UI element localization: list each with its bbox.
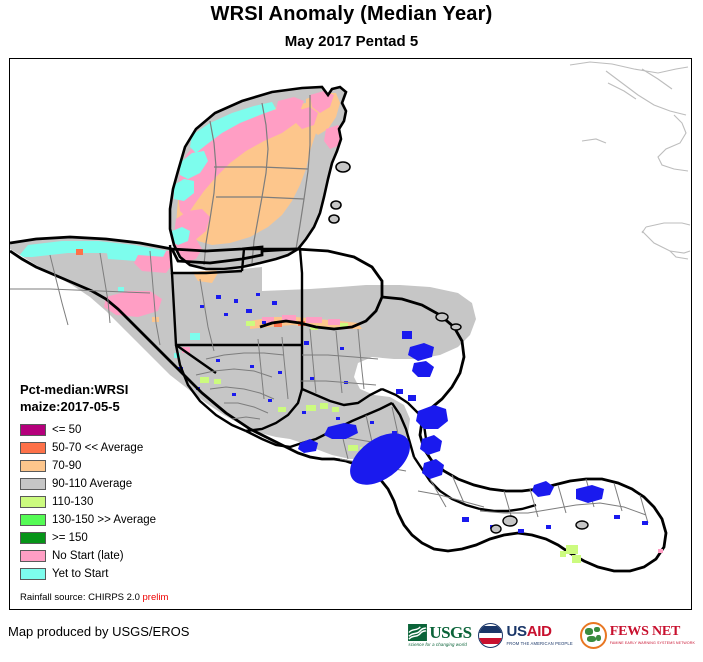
legend-item-no-start: No Start (late) <box>20 547 216 565</box>
usgs-logo[interactable]: USGS science for a changing world <box>408 620 471 650</box>
legend-item-yet-to-start: Yet to Start <box>20 565 216 583</box>
usaid-logo[interactable]: USAID FROM THE AMERICAN PEOPLE <box>478 620 572 650</box>
usgs-wordmark: USGS <box>429 624 471 641</box>
page-subtitle: May 2017 Pentad 5 <box>0 33 703 50</box>
fews-wordmark: FEWS NET <box>610 625 695 639</box>
fews-net-logo[interactable]: FEWS NET FAMINE EARLY WARNING SYSTEMS NE… <box>580 620 695 650</box>
fews-tagline: FAMINE EARLY WARNING SYSTEMS NETWORK <box>610 641 695 645</box>
legend-label-no-start: No Start (late) <box>52 550 124 562</box>
legend-label-130-150: 130-150 >> Average <box>52 514 156 526</box>
legend-swatch-no-start <box>20 550 46 562</box>
usgs-tagline: science for a changing world <box>408 642 466 647</box>
legend-label-ge-150: >= 150 <box>52 532 88 544</box>
legend-item-90-110: 90-110 Average <box>20 475 216 493</box>
legend-swatch-yet-to-start <box>20 568 46 580</box>
fews-globe-icon <box>580 622 607 649</box>
rainfall-source-note: Rainfall source: CHIRPS 2.0 prelim <box>20 592 216 603</box>
legend-swatch-le-50 <box>20 424 46 436</box>
map-legend: Pct-median:WRSI maize:2017-05-5 <= 50 50… <box>20 381 216 603</box>
rainfall-source-label: Rainfall source: CHIRPS 2.0 <box>20 592 140 603</box>
legend-item-70-90: 70-90 <box>20 457 216 475</box>
legend-swatch-110-130 <box>20 496 46 508</box>
agency-logos: USGS science for a changing world USAID … <box>408 620 695 650</box>
page-title: WRSI Anomaly (Median Year) <box>0 3 703 26</box>
usaid-wordmark: USAID <box>506 624 572 639</box>
legend-item-110-130: 110-130 <box>20 493 216 511</box>
legend-item-ge-150: >= 150 <box>20 529 216 547</box>
legend-item-list: <= 50 50-70 << Average 70-90 90-110 Aver… <box>20 421 216 583</box>
legend-item-le-50: <= 50 <box>20 421 216 439</box>
legend-swatch-ge-150 <box>20 532 46 544</box>
map-credit: Map produced by USGS/EROS <box>8 624 189 639</box>
legend-label-le-50: <= 50 <box>52 424 81 436</box>
rainfall-source-status: prelim <box>143 592 169 603</box>
legend-swatch-90-110 <box>20 478 46 490</box>
legend-label-90-110: 90-110 Average <box>52 478 132 490</box>
usaid-word-aid: AID <box>527 623 552 640</box>
map-canvas[interactable]: Pct-median:WRSI maize:2017-05-5 <= 50 50… <box>9 58 692 610</box>
legend-label-110-130: 110-130 <box>52 496 93 508</box>
usaid-tagline: FROM THE AMERICAN PEOPLE <box>506 641 572 646</box>
legend-label-50-70: 50-70 << Average <box>52 442 143 454</box>
legend-heading-line1: Pct-median:WRSI <box>20 381 216 398</box>
legend-swatch-70-90 <box>20 460 46 472</box>
usgs-wave-icon <box>408 624 427 641</box>
legend-label-70-90: 70-90 <box>52 460 81 472</box>
legend-swatch-50-70 <box>20 442 46 454</box>
legend-label-yet-to-start: Yet to Start <box>52 568 108 580</box>
panama-pink-fleck <box>658 549 663 553</box>
legend-item-50-70: 50-70 << Average <box>20 439 216 457</box>
legend-item-130-150: 130-150 >> Average <box>20 511 216 529</box>
legend-swatch-130-150 <box>20 514 46 526</box>
usaid-word-us: US <box>506 623 526 640</box>
legend-heading-line2: maize:2017-05-5 <box>20 398 216 415</box>
usaid-seal-icon <box>478 623 503 648</box>
